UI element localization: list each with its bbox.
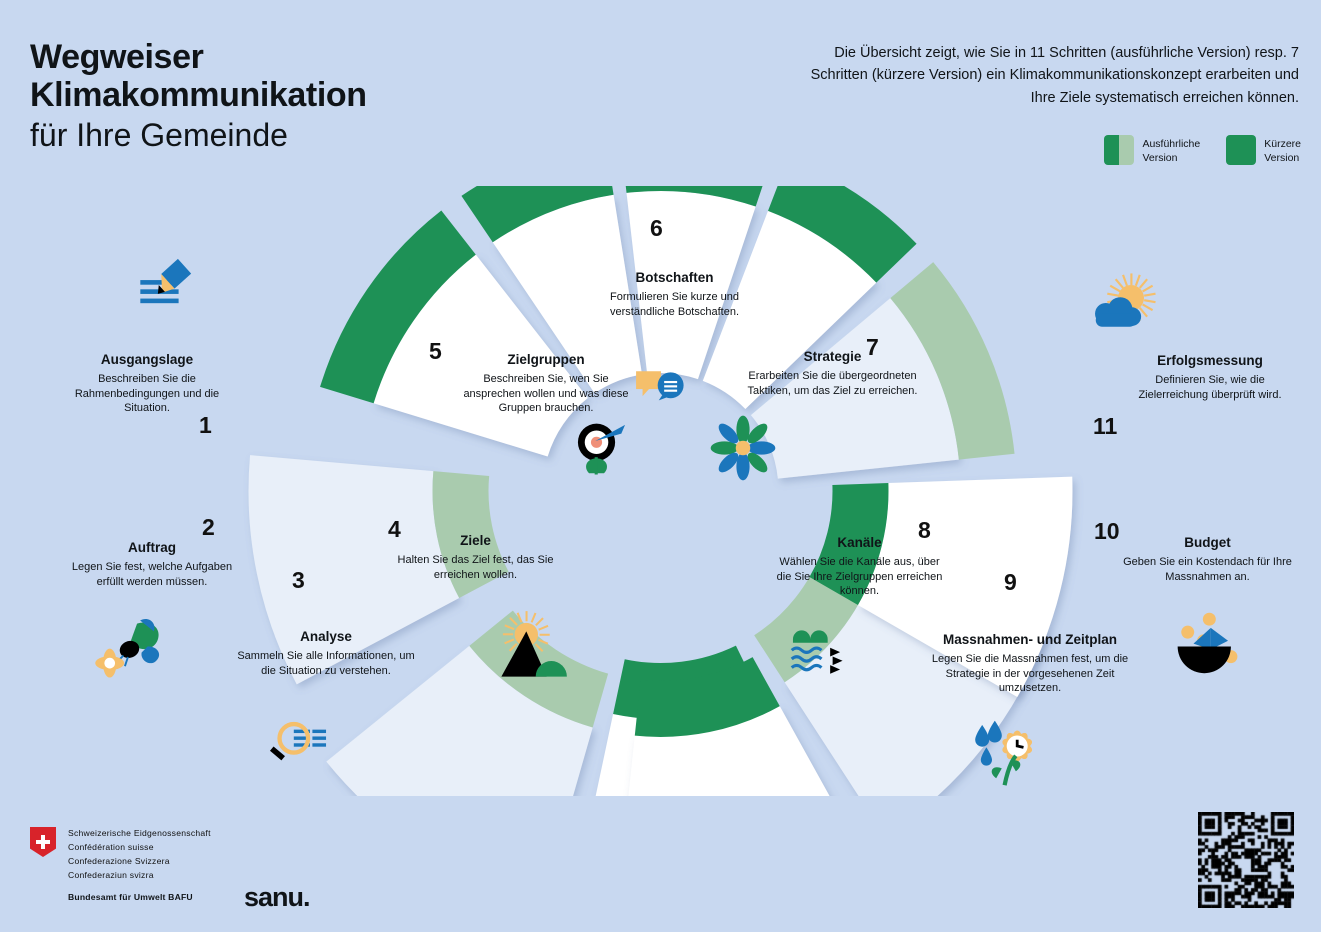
title-line-3: für Ihre Gemeinde	[30, 116, 367, 154]
bafu-office-label: Bundesamt für Umwelt BAFU	[68, 892, 211, 902]
legend: Ausführliche Version Kürzere Version	[1104, 135, 1301, 165]
page-title: Wegweiser Klimakommunikation für Ihre Ge…	[30, 38, 367, 154]
legend-label-line2: Version	[1142, 151, 1200, 165]
poster-canvas: Wegweiser Klimakommunikation für Ihre Ge…	[0, 0, 1321, 932]
confederation-rm: Confederaziun svizra	[68, 869, 211, 883]
confederation-de: Schweizerische Eidgenossenschaft	[68, 827, 211, 841]
confederation-fr: Confédération suisse	[68, 841, 211, 855]
title-line-1: Wegweiser	[30, 38, 367, 76]
sanu-logo: sanu.	[244, 882, 310, 913]
title-line-2: Klimakommunikation	[30, 76, 367, 114]
wheel-svg	[0, 186, 1321, 796]
legend-label-kuerzere: Kürzere Version	[1264, 135, 1301, 165]
legend-item-kuerzere: Kürzere Version	[1226, 135, 1301, 165]
segment-body-2	[249, 455, 460, 684]
legend-item-ausfuehrliche: Ausführliche Version	[1104, 135, 1200, 165]
process-wheel: AusgangslageBeschreiben Sie die Rahmenbe…	[0, 186, 1321, 796]
confederation-names: Schweizerische Eidgenossenschaft Confédé…	[68, 827, 211, 883]
legend-label-line1: Kürzere	[1264, 137, 1301, 151]
swiss-flag-icon	[30, 827, 56, 857]
legend-label-line2: Version	[1264, 151, 1301, 165]
legend-label-ausfuehrliche: Ausführliche Version	[1142, 135, 1200, 165]
legend-label-line1: Ausführliche	[1142, 137, 1200, 151]
confederation-it: Confederazione Svizzera	[68, 855, 211, 869]
legend-swatch-split	[1104, 135, 1134, 165]
intro-text: Die Übersicht zeigt, wie Sie in 11 Schri…	[809, 42, 1299, 109]
qr-code[interactable]	[1198, 812, 1294, 908]
legend-swatch-solid	[1226, 135, 1256, 165]
swiss-confederation-logo: Schweizerische Eidgenossenschaft Confédé…	[30, 827, 211, 902]
